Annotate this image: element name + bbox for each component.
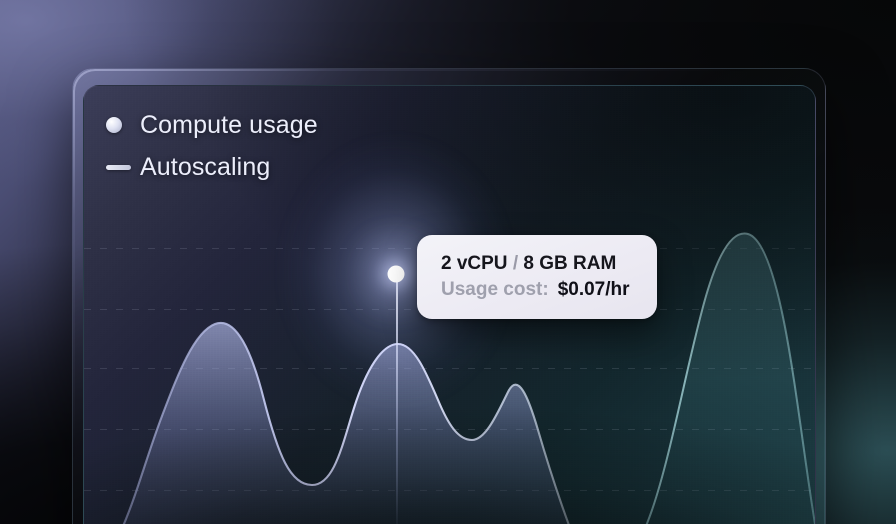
tooltip-separator: / <box>513 253 518 274</box>
legend-item-label: Compute usage <box>140 111 318 140</box>
tooltip-cost-value: $0.07/hr <box>558 277 630 303</box>
tooltip-spec-line: 2 vCPU / 8 GB RAM <box>417 251 657 277</box>
highlight-point-marker[interactable] <box>388 266 405 283</box>
tooltip-ram: 8 GB RAM <box>523 253 616 274</box>
legend-item-label: Autoscaling <box>140 153 270 182</box>
cursor-line <box>396 274 398 524</box>
tooltip-cost-label: Usage cost: <box>441 277 549 303</box>
screenshot-stage: Compute usage Autoscaling 2 vCPU / 8 GB … <box>0 0 896 524</box>
legend-item-autoscaling[interactable]: Autoscaling <box>106 146 318 188</box>
tooltip-vcpu: 2 vCPU <box>441 253 508 274</box>
chart-legend: Compute usage Autoscaling <box>106 104 318 188</box>
dash-marker-icon <box>106 165 140 170</box>
chart-tooltip: 2 vCPU / 8 GB RAM Usage cost: $0.07/hr <box>417 235 657 319</box>
tooltip-cost-line: Usage cost: $0.07/hr <box>417 277 657 303</box>
dot-marker-icon <box>106 117 140 133</box>
legend-item-compute-usage[interactable]: Compute usage <box>106 104 318 146</box>
